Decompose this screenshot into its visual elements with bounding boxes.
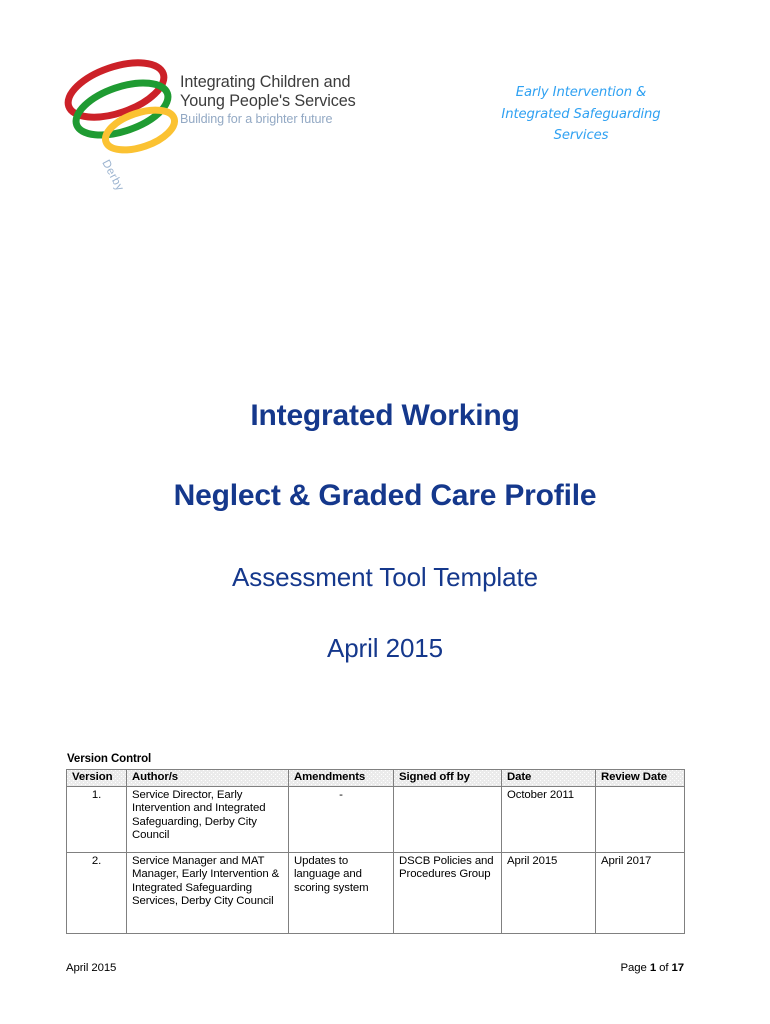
logo-derby-text: Derby [99,158,125,193]
cell-version: 1. [67,787,127,853]
page-subtitle: Neglect & Graded Care Profile [0,476,770,516]
page-title: Integrated Working [0,396,770,436]
footer-page-indicator: Page 1 of 17 [621,962,684,974]
column-header-amendments: Amendments [289,770,394,787]
page-date: April 2015 [0,629,770,667]
version-control-table: Version Author/s Amendments Signed off b… [66,769,685,934]
footer-page-prefix: Page [621,962,650,974]
logo-rings-icon [58,54,190,160]
service-title-line-1: Early Intervention & [458,82,704,104]
column-header-author: Author/s [127,770,289,787]
table-header-row: Version Author/s Amendments Signed off b… [67,770,685,787]
document-page: Derby Integrating Children and Young Peo… [0,0,770,1024]
footer-page-middle: of [656,962,671,974]
derby-logo: Derby Integrating Children and Young Peo… [58,54,368,160]
page-header: Derby Integrating Children and Young Peo… [0,52,770,162]
service-title: Early Intervention & Integrated Safeguar… [458,82,704,147]
cell-author: Service Director, Early Intervention and… [127,787,289,853]
logo-line-2: Young People's Services [180,92,372,111]
cell-review-date [596,787,685,853]
title-spacer-1 [0,436,770,476]
logo-wordmark: Integrating Children and Young People's … [180,73,372,127]
cell-amendments: Updates to language and scoring system [289,853,394,934]
cell-version: 2. [67,853,127,934]
table-row: 2. Service Manager and MAT Manager, Earl… [67,853,685,934]
cell-amendments: - [289,787,394,853]
logo-line-1: Integrating Children and [180,73,372,92]
cell-signed-off-by [394,787,502,853]
page-tool-label: Assessment Tool Template [0,558,770,596]
table-row: 1. Service Director, Early Intervention … [67,787,685,853]
cell-author: Service Manager and MAT Manager, Early I… [127,853,289,934]
version-control-label: Version Control [67,753,151,765]
logo-tagline: Building for a brighter future [180,111,372,127]
column-header-review-date: Review Date [596,770,685,787]
service-title-line-3: Services [458,125,704,147]
column-header-date: Date [502,770,596,787]
column-header-signed-off-by: Signed off by [394,770,502,787]
title-spacer-2 [0,516,770,558]
service-title-line-2: Integrated Safeguarding [458,104,704,126]
cell-date: April 2015 [502,853,596,934]
title-spacer-3 [0,596,770,629]
cell-date: October 2011 [502,787,596,853]
cell-review-date: April 2017 [596,853,685,934]
footer-date: April 2015 [66,962,116,974]
footer-page-total: 17 [672,962,684,974]
column-header-version: Version [67,770,127,787]
cell-signed-off-by: DSCB Policies and Procedures Group [394,853,502,934]
title-block: Integrated Working Neglect & Graded Care… [0,396,770,667]
